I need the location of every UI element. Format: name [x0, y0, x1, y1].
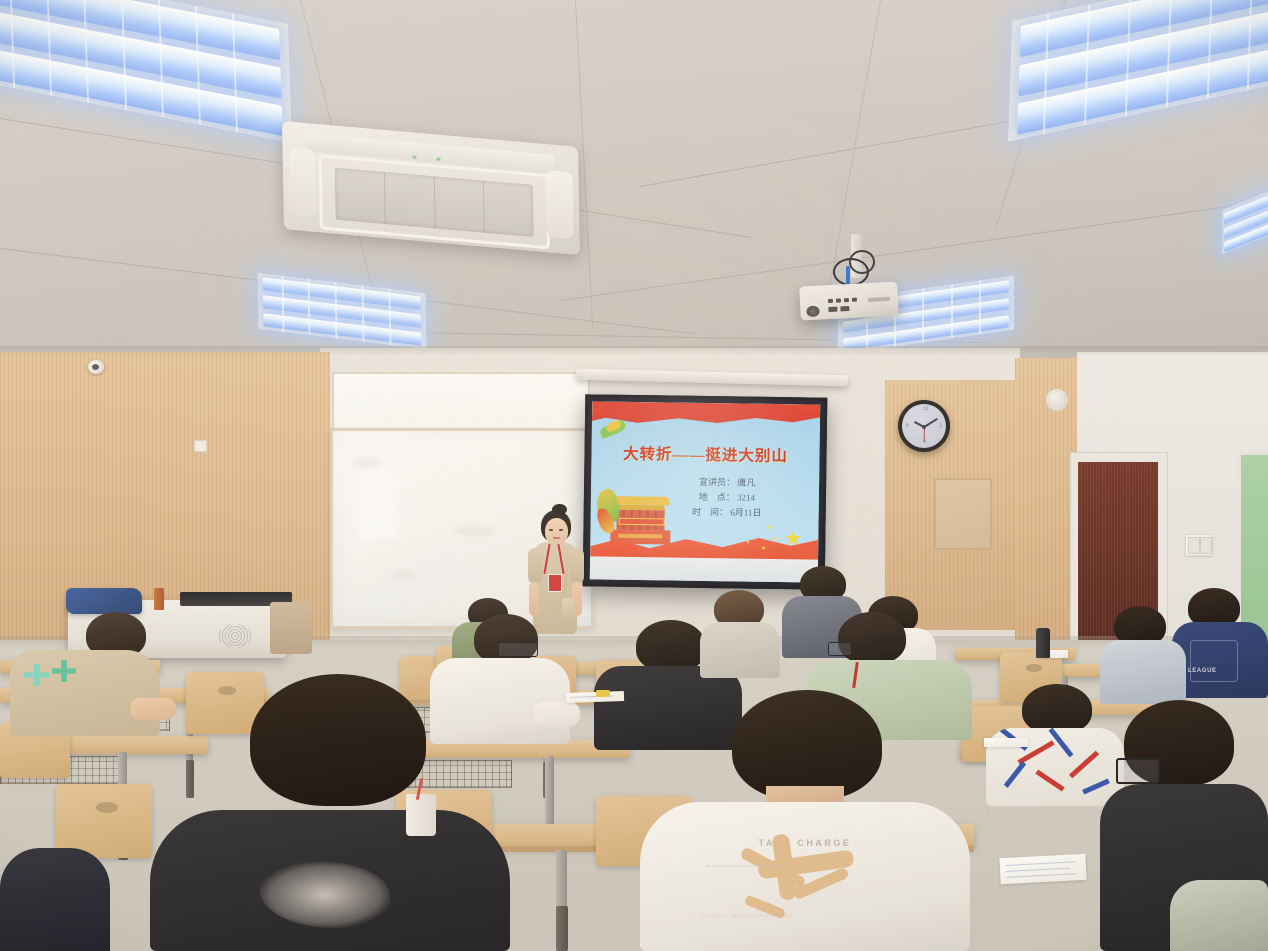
- projector-cable: [849, 250, 875, 274]
- shirt-subtext: DON'T WAIT — TAKE CHARGE OF YOUR FLIGHT: [640, 914, 970, 919]
- wall-speaker-icon: [1046, 389, 1068, 411]
- glasses: [498, 642, 538, 657]
- blue-bag: [66, 588, 142, 614]
- id-badge: [548, 574, 562, 592]
- student-shirt: TAKE CHARGE the fastest way to get where…: [640, 802, 970, 951]
- drink-cup: [406, 794, 436, 836]
- tiananmen-gate-graphic: [596, 487, 673, 550]
- light-switch[interactable]: [1185, 534, 1213, 556]
- student-foreground: [150, 674, 510, 951]
- wall-access-panel: [934, 478, 992, 550]
- student-hair: [250, 674, 426, 806]
- presentation-slide: 大转折——挺进大别山 宣讲员： 唐凡 地 点： 3214 时 间： 6月11日: [590, 401, 820, 582]
- student-shirt: [1170, 880, 1268, 951]
- desk-leg: [545, 756, 554, 834]
- flag-star-icon: ★: [766, 524, 772, 531]
- presenter-hair-bun: [552, 504, 567, 515]
- desk-leg: [556, 906, 568, 951]
- paper: [566, 691, 624, 703]
- whiteboard-upper-panel: [332, 372, 590, 434]
- glasses: [828, 642, 852, 656]
- flag-star-icon: ★: [773, 536, 778, 542]
- presenter-sleeve: [528, 548, 542, 584]
- projection-screen: 大转折——挺进大别山 宣讲员： 唐凡 地 点： 3214 时 间： 6月11日: [583, 394, 828, 589]
- student-hair: [838, 612, 906, 664]
- shirt-subtext: the fastest way to get where you're goin…: [640, 864, 970, 869]
- projector: [799, 281, 899, 320]
- presenter-arm: [529, 582, 539, 616]
- shirt-graphic: [260, 862, 390, 928]
- student-foreground: TAKE CHARGE the fastest way to get where…: [640, 690, 970, 951]
- paper: [984, 738, 1028, 747]
- student-hair: [636, 620, 706, 672]
- wall-outlet: [194, 440, 207, 452]
- student-shirt: [10, 650, 160, 736]
- student-arm: [534, 702, 580, 726]
- paper-stack: [999, 854, 1086, 884]
- wall-clock: 12 3 6 9: [898, 400, 950, 452]
- student-hair: [1022, 684, 1092, 734]
- flag-star-large-icon: ★: [783, 528, 802, 549]
- slide-top-red-band: [592, 401, 820, 427]
- shirt-text-league: LEAGUE: [1188, 668, 1217, 674]
- student-shirt: [0, 848, 110, 951]
- student-shirt: [150, 810, 510, 951]
- student: LEAGUE: [1172, 588, 1268, 698]
- student-hair: [732, 690, 882, 800]
- flag-star-icon: ★: [761, 546, 766, 552]
- presenter-face: [545, 518, 568, 545]
- thermos-bottle: [1036, 628, 1050, 658]
- flag-star-icon: ★: [746, 541, 751, 546]
- slide-title: 大转折——挺进大别山: [591, 441, 819, 466]
- security-camera-icon: [88, 360, 104, 374]
- chair: [56, 784, 152, 858]
- desk-item: [596, 690, 610, 697]
- classroom-photo: 大转折——挺进大别山 宣讲员： 唐凡 地 点： 3214 时 间： 6月11日: [0, 0, 1268, 951]
- student-foreground: [0, 848, 110, 951]
- presenter-sleeve: [570, 548, 584, 584]
- podium-side-cabinet: [270, 602, 312, 654]
- student: [700, 590, 780, 676]
- shirt-text-take-charge: TAKE CHARGE: [640, 838, 970, 848]
- student-shirt: LEAGUE: [1172, 622, 1268, 698]
- student-shirt: [700, 622, 780, 678]
- wall-ceiling-junction: [0, 346, 1268, 356]
- student-foreground: [1170, 880, 1268, 951]
- glasses: [1116, 758, 1160, 784]
- orange-bottle: [154, 588, 164, 610]
